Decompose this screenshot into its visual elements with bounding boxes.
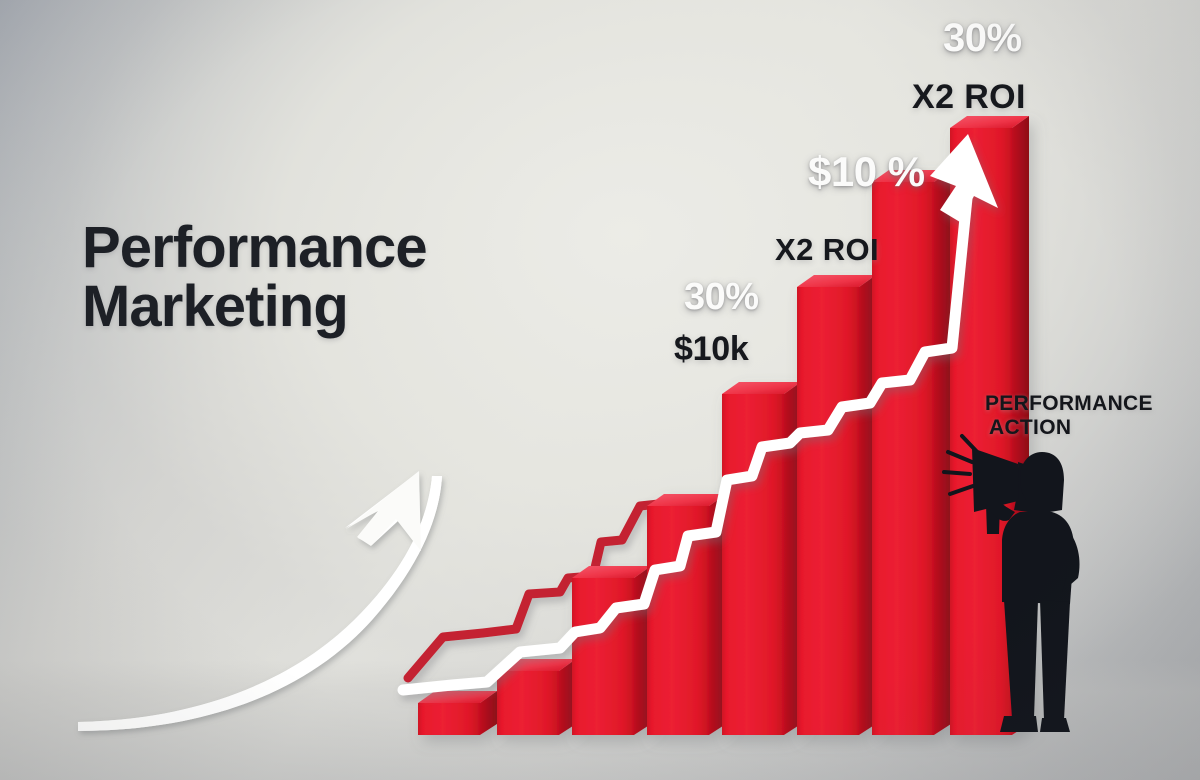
callout-pct-top: 30% bbox=[943, 16, 1022, 61]
callout-money-pct: $10 % bbox=[808, 148, 925, 196]
headline-line-1: Performance bbox=[82, 218, 427, 277]
bar-1 bbox=[418, 691, 497, 735]
bar-5 bbox=[722, 382, 801, 735]
action-badge-line-2: ACTION bbox=[989, 416, 1153, 440]
poster-canvas: Performance Marketing 30% X2 ROI $10 % X… bbox=[0, 0, 1200, 780]
bar-2 bbox=[497, 659, 576, 735]
chart-graphics bbox=[0, 0, 1200, 780]
bar-6 bbox=[797, 275, 876, 735]
callout-money-mid: $10k bbox=[674, 330, 748, 369]
callout-pct-mid: 30% bbox=[684, 276, 759, 319]
callout-roi-top: X2 ROI bbox=[912, 78, 1026, 117]
action-badge-line-1: PERFORMANCE bbox=[985, 392, 1153, 416]
bar-group bbox=[418, 116, 1029, 735]
growth-arrow-icon bbox=[78, 471, 442, 731]
bar-7 bbox=[872, 170, 951, 735]
callout-roi-mid: X2 ROI bbox=[775, 232, 879, 268]
bar-3 bbox=[572, 566, 651, 735]
action-badge: PERFORMANCE ACTION bbox=[985, 392, 1153, 439]
page-title: Performance Marketing bbox=[82, 218, 427, 336]
headline-line-2: Marketing bbox=[82, 277, 427, 336]
